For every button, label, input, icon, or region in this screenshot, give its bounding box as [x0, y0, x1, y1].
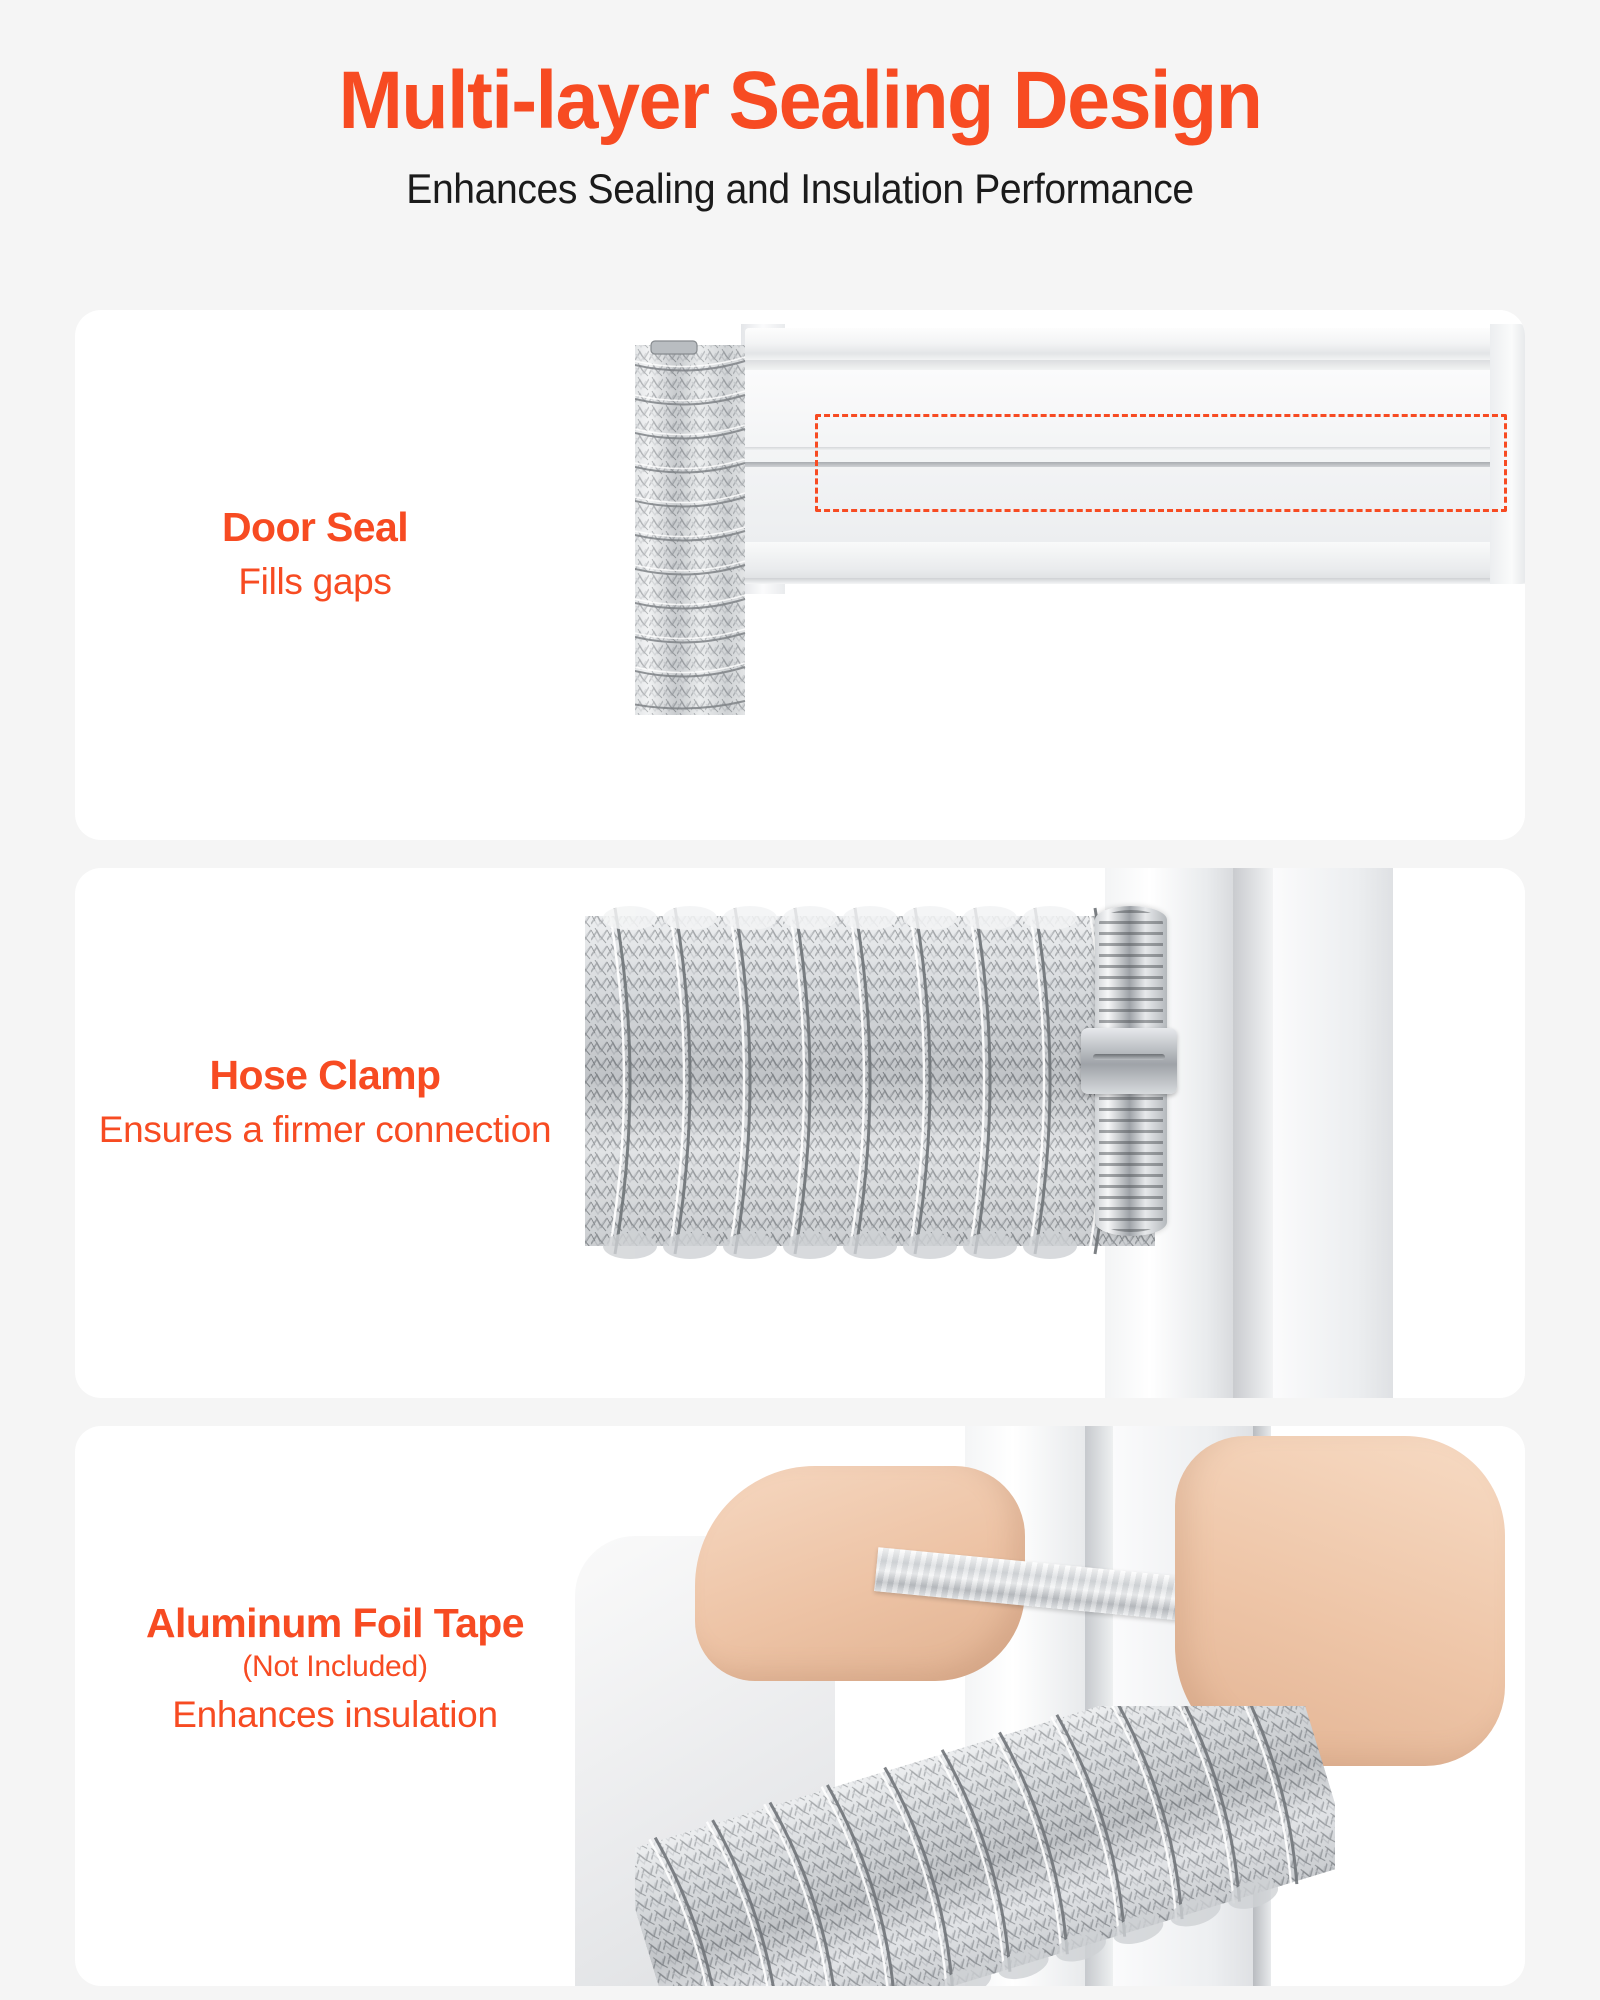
panel-top-edge	[745, 328, 1525, 362]
feature-card-door-seal: Door Seal Fills gaps	[75, 310, 1525, 840]
feature-card-aluminum-foil-tape: Aluminum Foil Tape (Not Included) Enhanc…	[75, 1426, 1525, 1986]
page-header: Multi-layer Sealing Design Enhances Seal…	[0, 0, 1600, 213]
page-subtitle: Enhances Sealing and Insulation Performa…	[56, 165, 1544, 213]
card-subtitle: Enhances insulation	[75, 1693, 615, 1737]
card-title: Aluminum Foil Tape	[75, 1601, 615, 1646]
card-caption: Hose Clamp Ensures a firmer connection	[75, 1053, 575, 1152]
door-seal-photo	[635, 310, 1525, 840]
feature-card-hose-clamp: Hose Clamp Ensures a firmer connection	[75, 868, 1525, 1398]
hose-clamp-photo	[575, 868, 1525, 1398]
hose-clamp-screw-housing	[1081, 1028, 1177, 1094]
infographic-page: Multi-layer Sealing Design Enhances Seal…	[0, 0, 1600, 2000]
foil-duct-hose	[635, 335, 767, 715]
foil-tape-photo	[575, 1426, 1525, 1986]
panel-bottom-edge	[745, 578, 1525, 584]
card-caption: Aluminum Foil Tape (Not Included) Enhanc…	[75, 1601, 615, 1737]
window-frame-divider	[1233, 868, 1273, 1398]
window-frame-panel	[1273, 868, 1393, 1398]
card-note: (Not Included)	[75, 1650, 615, 1683]
card-title: Hose Clamp	[75, 1053, 575, 1098]
card-subtitle: Ensures a firmer connection	[75, 1108, 575, 1152]
card-subtitle: Fills gaps	[75, 560, 555, 604]
card-caption: Door Seal Fills gaps	[75, 505, 555, 604]
page-title: Multi-layer Sealing Design	[48, 58, 1552, 143]
panel-bottom	[745, 542, 1525, 582]
card-title: Door Seal	[75, 505, 555, 550]
foil-duct-hose	[635, 1706, 1335, 1986]
seal-highlight-box	[815, 414, 1507, 512]
